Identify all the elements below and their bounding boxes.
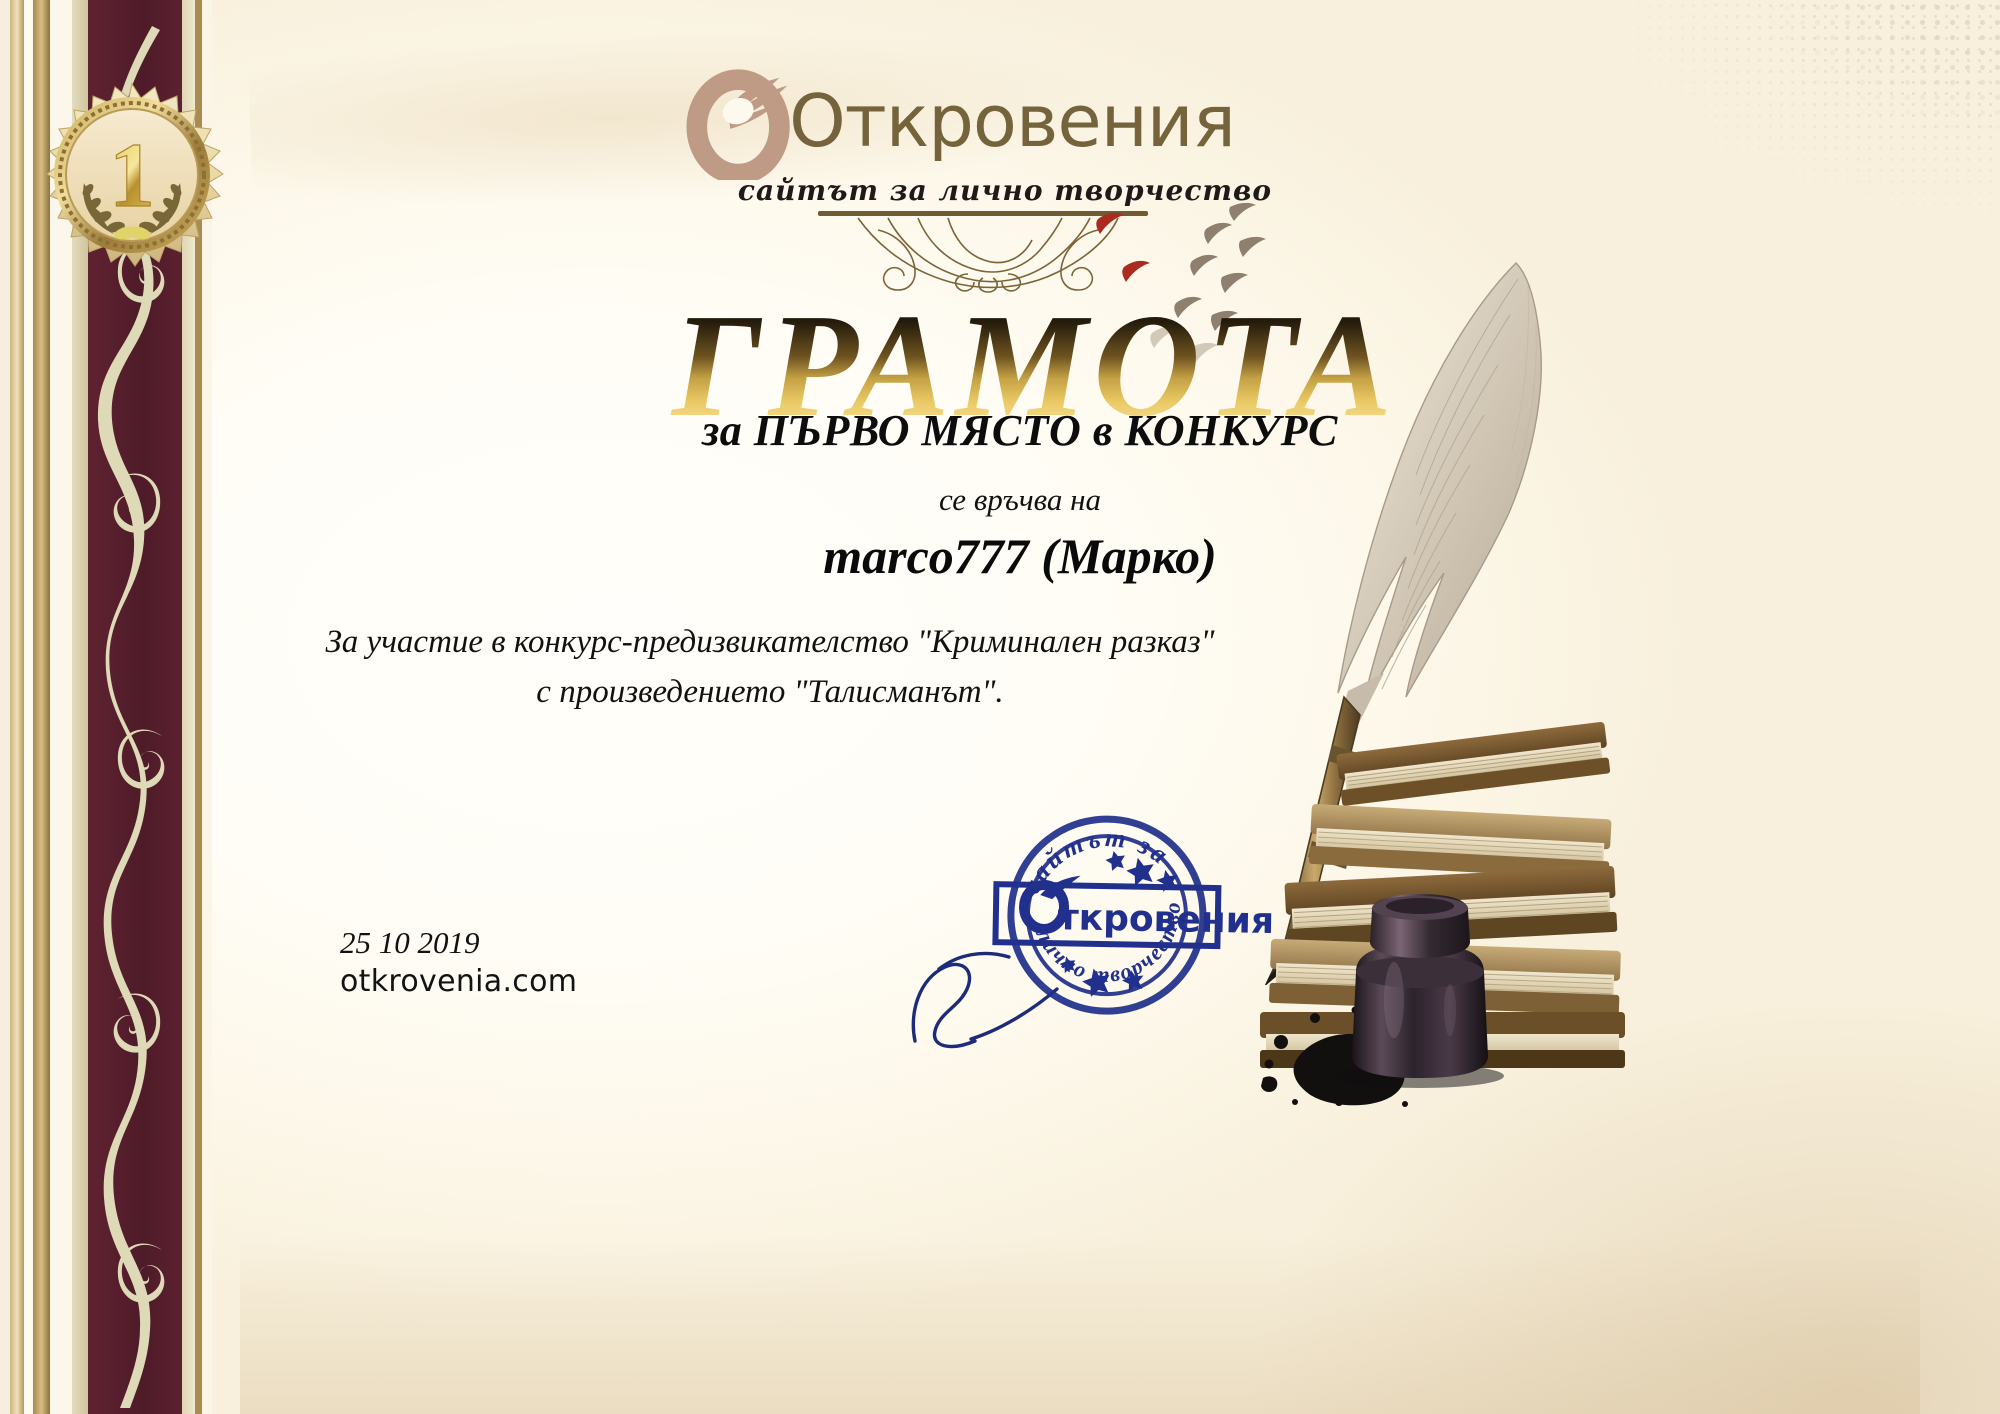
first-place-rosette-icon: 1 — [22, 78, 242, 298]
award-description: За участие в конкурс-предизвикателство "… — [320, 618, 1220, 717]
otkrovenia-o-mark-icon — [685, 62, 803, 180]
stamp-center-text: ткровения — [1057, 897, 1274, 942]
logo-wordmark: Откровения — [789, 85, 1235, 157]
svg-text:1: 1 — [109, 124, 155, 226]
paper-wash-bottom — [240, 1204, 1920, 1414]
certificate-canvas: 1 — [0, 0, 2000, 1414]
issue-date: 25 10 2019 — [340, 925, 577, 961]
halftone-dots-icon — [1570, 0, 2000, 210]
inkwell-bottle-icon — [1310, 880, 1530, 1090]
award-place-line: за ПЪРВО МЯСТО в КОНКУРС — [0, 405, 2000, 456]
recipient-name: marco777 (Марко) — [0, 527, 2000, 585]
certificate-footer: 25 10 2019 otkrovenia.com — [340, 925, 577, 999]
awarded-to-label: се връчва на — [0, 482, 2000, 518]
website-url: otkrovenia.com — [340, 964, 577, 999]
